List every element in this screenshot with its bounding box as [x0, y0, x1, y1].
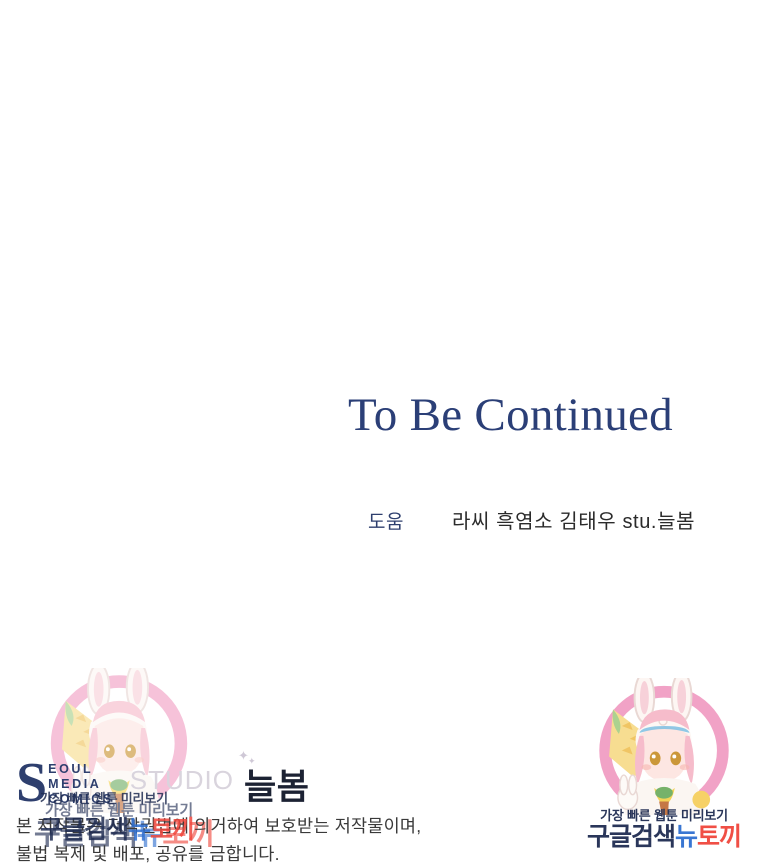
seoul-media-comics-logo: S EOUL MEDIA COMICS	[16, 759, 114, 809]
rabbit-girl-illustration-right	[584, 678, 744, 815]
watermark-tagline-right: 가장 빠른 웹툰 미리보기	[584, 809, 744, 822]
credits-row: 도움 라씨 흑염소 김태우 stu.늘봄	[368, 505, 695, 534]
logo-word-seoul: EOUL	[48, 762, 114, 777]
logo-wordmark: EOUL MEDIA COMICS	[48, 760, 114, 806]
copyright-notice: 본 저작물은 저작권법에 의거하여 보호받는 저작물이며, 불법 복제 및 배포…	[16, 812, 421, 863]
to-be-continued-title: To Be Continued	[348, 391, 748, 440]
logo-word-comics: COMICS	[48, 792, 114, 807]
logo-word-media: MEDIA	[48, 777, 114, 792]
watermark-brand-right: 구글검색뉴토끼	[584, 825, 744, 850]
watermark-badge-right: 가장 빠른 웹툰 미리보기 구글검색뉴토끼	[584, 678, 744, 854]
credits-names: 라씨 흑염소 김태우 stu.늘봄	[452, 505, 695, 534]
copyright-line-2: 불법 복제 및 배포, 공유를 금합니다.	[16, 840, 421, 863]
sparkle-icon-small: ✦	[248, 756, 256, 767]
copyright-line-1: 본 저작물은 저작권법에 의거하여 보호받는 저작물이며,	[16, 812, 421, 840]
comic-ending-page: To Be Continued 도움 라씨 흑염소 김태우 stu.늘봄	[0, 0, 760, 863]
footer-band: 가장 빠른 웹툰 미리보기 구글검색뉴토끼 S EOUL MEDIA COMIC…	[0, 660, 760, 863]
watermark-brand-part1-right: 구글검색	[587, 823, 675, 851]
studio-word: STUDIO	[130, 765, 234, 796]
logo-initial-s: S	[16, 759, 47, 808]
watermark-text-right: 가장 빠른 웹툰 미리보기 구글검색뉴토끼	[584, 809, 744, 850]
watermark-brand-part3-right: 토끼	[697, 823, 741, 851]
publisher-logo: S EOUL MEDIA COMICS STUDIO 늘봄	[16, 758, 309, 809]
watermark-brand-part2-right: 뉴	[675, 823, 697, 851]
credits-label: 도움	[368, 507, 404, 534]
